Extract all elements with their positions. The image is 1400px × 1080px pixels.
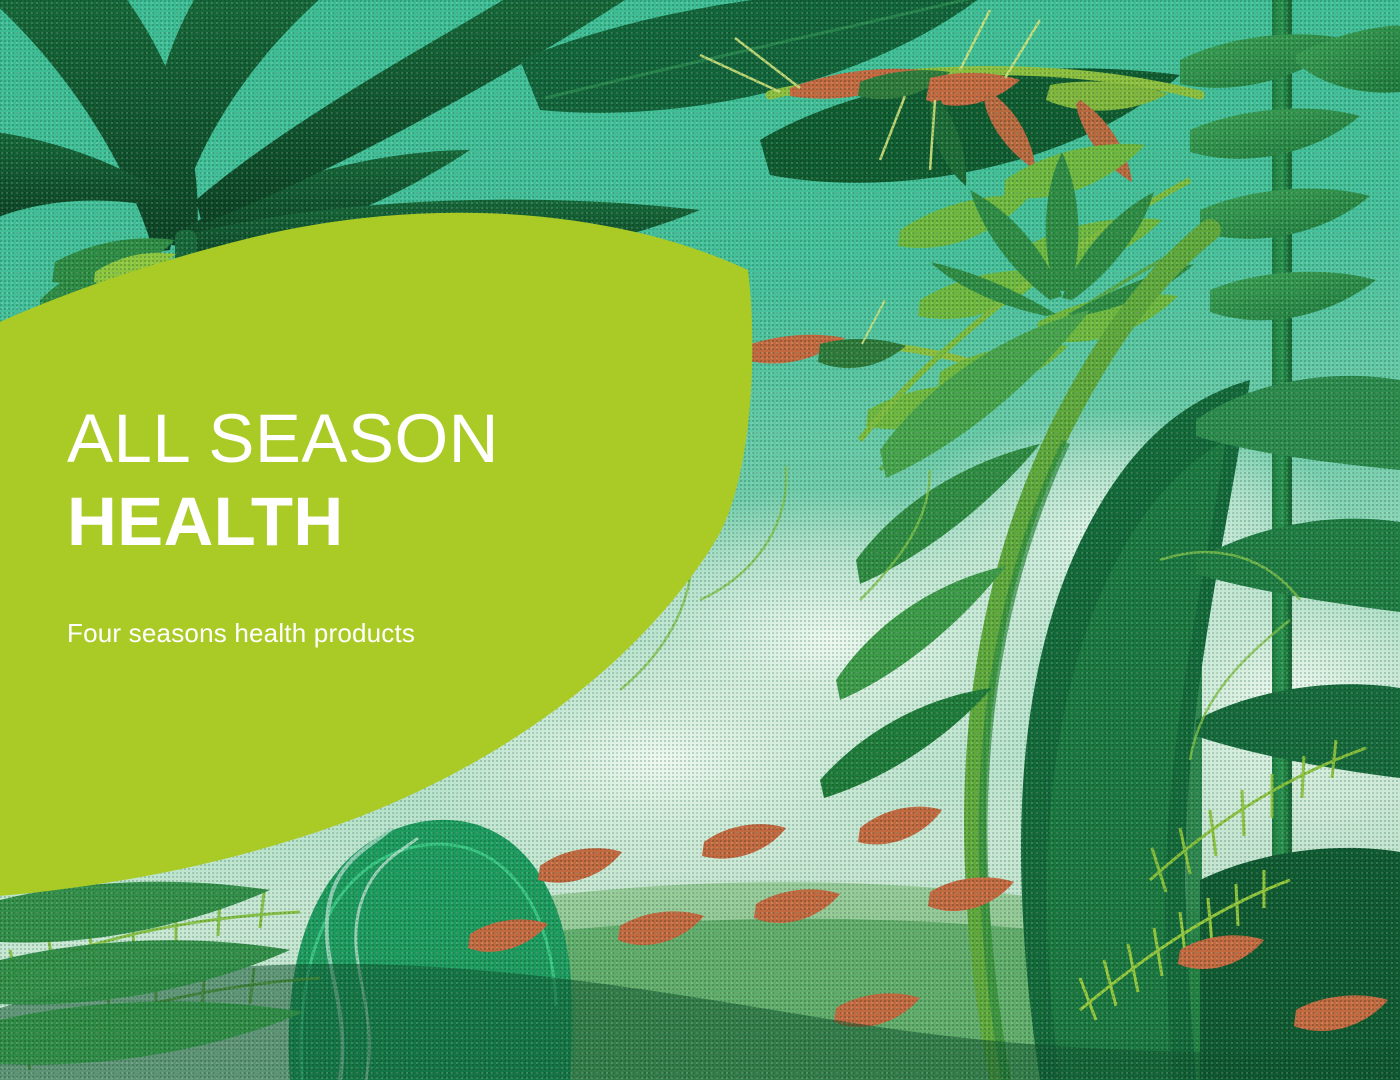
headline-block: ALL SEASON HEALTH Four seasons health pr… (67, 404, 627, 649)
page-title-line2: HEALTH (67, 487, 627, 556)
poster-canvas: ALL SEASON HEALTH Four seasons health pr… (0, 0, 1400, 1080)
page-title-line1: ALL SEASON (67, 404, 627, 473)
page-subtitle: Four seasons health products (67, 618, 627, 649)
